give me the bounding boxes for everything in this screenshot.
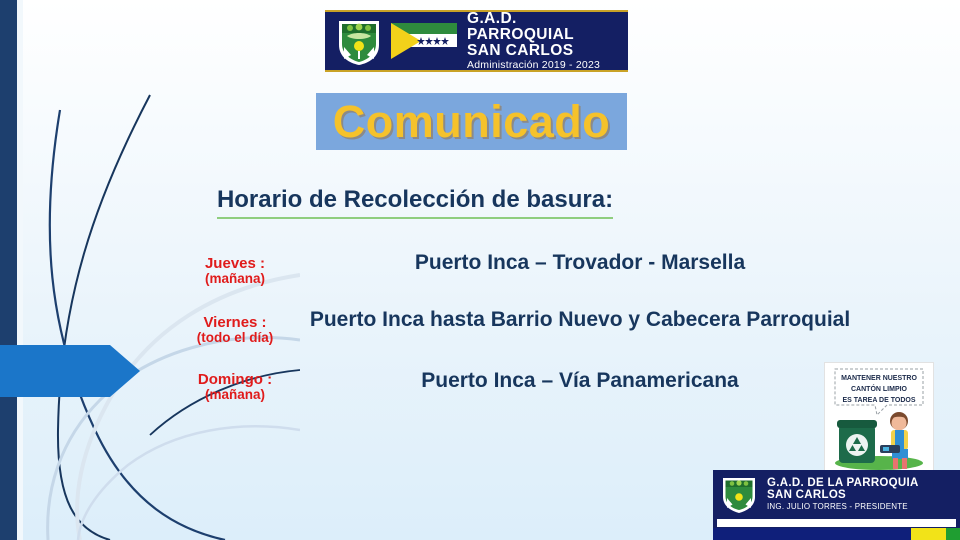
footer-bar-green [946,528,960,540]
poster-line1: MANTENER NUESTRO [841,375,917,382]
schedule-day-domingo: Domingo : (mañana) [165,368,305,403]
header-org-line2: SAN CARLOS [467,43,628,59]
day-time-label: (mañana) [165,388,305,403]
subtitle-wrapper: Horario de Recolección de basura: [200,186,630,219]
header-org-text: G.A.D. PARROQUIAL SAN CARLOS Administrac… [467,11,628,71]
footer-org-line2: SAN CARLOS [767,489,919,501]
schedule-row: Viernes : (todo el día) Puerto Inca hast… [165,307,885,346]
day-label: Jueves : [165,256,305,272]
header-logo-banner: G.A.D. PARROQUIAL SAN CARLOS Administrac… [325,10,628,72]
footer-org-line1: G.A.D. DE LA PARROQUIA [767,477,919,489]
header-administration: Administración 2019 - 2023 [467,60,628,71]
footer-bar-navy [713,528,911,540]
parish-flag-icon [391,23,457,59]
footer-color-bars [713,528,960,540]
schedule-row: Domingo : (mañana) Puerto Inca – Vía Pan… [165,368,885,403]
awareness-poster: MANTENER NUESTRO CANTÓN LIMPIO ES TAREA … [824,362,934,472]
poster-illustration-icon: MANTENER NUESTRO CANTÓN LIMPIO ES TAREA … [825,363,933,471]
poster-line2: CANTÓN LIMPIO [851,384,908,393]
day-time-label: (todo el día) [165,331,305,346]
title-banner: Comunicado [316,93,627,150]
schedule-place-jueves: Puerto Inca – Trovador - Marsella [305,250,885,275]
schedule-place-viernes: Puerto Inca hasta Barrio Nuevo y Cabecer… [305,307,885,332]
footer-coat-of-arms-icon [719,474,759,514]
day-label: Domingo : [165,372,305,388]
footer-main-row: G.A.D. DE LA PARROQUIA SAN CARLOS ING. J… [713,470,960,518]
footer-org-text: G.A.D. DE LA PARROQUIA SAN CARLOS ING. J… [767,477,919,512]
header-org-line1: G.A.D. PARROQUIAL [467,11,628,43]
schedule-row: Jueves : (mañana) Puerto Inca – Trovador… [165,250,885,287]
footer-logo-banner: G.A.D. DE LA PARROQUIA SAN CARLOS ING. J… [713,470,960,540]
footer-white-band [717,519,956,527]
coat-of-arms-icon [333,15,385,67]
schedule-list: Jueves : (mañana) Puerto Inca – Trovador… [165,250,885,412]
schedule-day-viernes: Viernes : (todo el día) [165,307,305,346]
footer-president: ING. JULIO TORRES - PRESIDENTE [767,503,919,511]
day-time-label: (mañana) [165,272,305,287]
schedule-place-domingo: Puerto Inca – Vía Panamericana [305,368,885,393]
page-title: Comunicado [333,96,611,148]
subtitle-heading: Horario de Recolección de basura: [217,186,613,219]
schedule-day-jueves: Jueves : (mañana) [165,250,305,287]
slide-canvas: G.A.D. PARROQUIAL SAN CARLOS Administrac… [0,0,960,540]
arrow-right-icon [0,342,140,400]
day-label: Viernes : [165,315,305,331]
poster-line3: ES TAREA DE TODOS [843,397,916,404]
footer-bar-yellow [911,528,946,540]
